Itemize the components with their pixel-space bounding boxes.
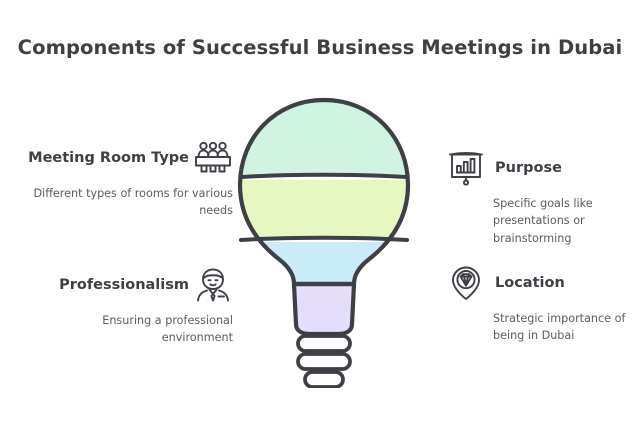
feature-title-purpose: Purpose xyxy=(490,159,562,177)
bulb-band-divider-lower xyxy=(241,238,407,240)
feature-header: Purpose xyxy=(446,148,636,188)
page-title: Components of Successful Business Meetin… xyxy=(0,36,640,59)
bulb-screw-threads xyxy=(298,336,350,387)
businessman-icon xyxy=(193,265,233,305)
map-pin-diamond-icon xyxy=(446,263,486,303)
presentation-chart-icon xyxy=(446,148,486,188)
feature-title-meeting-room-type: Meeting Room Type xyxy=(28,149,189,167)
infographic-canvas: Components of Successful Business Meetin… xyxy=(0,0,640,427)
feature-title-professionalism: Professionalism xyxy=(59,276,189,294)
feature-header: Location xyxy=(446,263,636,303)
feature-meeting-room-type[interactable]: Meeting Room Type xyxy=(28,138,233,220)
feature-header: Meeting Room Type xyxy=(28,138,233,178)
feature-location[interactable]: Location Strategic importance of being i… xyxy=(446,263,636,345)
feature-description-location: Strategic importance of being in Dubai xyxy=(446,310,636,345)
bulb-band-divider-upper xyxy=(242,175,406,177)
feature-description-purpose: Specific goals like presentations or bra… xyxy=(446,195,636,247)
feature-description-meeting-room-type: Different types of rooms for various nee… xyxy=(28,185,233,220)
feature-description-professionalism: Ensuring a professional environment xyxy=(28,312,233,347)
feature-professionalism[interactable]: Professionalism Ensuring a professional … xyxy=(28,265,233,347)
meeting-people-table-icon xyxy=(193,138,233,178)
feature-purpose[interactable]: Purpose Specific goals like presentation… xyxy=(446,148,636,247)
feature-header: Professionalism xyxy=(28,265,233,305)
light-bulb-graphic xyxy=(228,88,420,388)
feature-title-location: Location xyxy=(490,274,565,292)
